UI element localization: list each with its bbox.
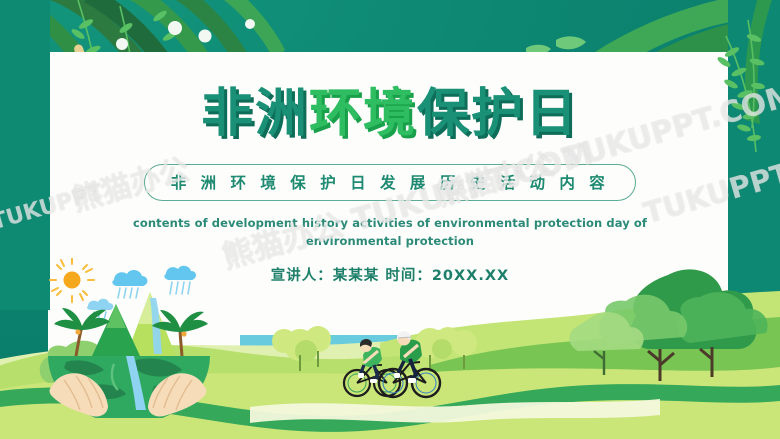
english-subtitle-line-2: environmental protection — [0, 233, 780, 251]
slide-canvas: 非洲环境保护日 非 洲 环 境 保 护 日 发 展 历 史 活 动 内 容 co… — [0, 0, 780, 439]
title-block: 非洲环境保护日 非 洲 环 境 保 护 日 发 展 历 史 活 动 内 容 co… — [0, 88, 780, 285]
title-part-1: 非洲 — [201, 84, 309, 144]
english-subtitle: contents of development history activiti… — [0, 215, 780, 251]
title-part-3: 保护日 — [417, 84, 579, 144]
page-title: 非洲环境保护日 — [0, 88, 780, 140]
subtitle-pill-wrap: 非 洲 环 境 保 护 日 发 展 历 史 活 动 内 容 — [0, 140, 780, 201]
title-part-2: 环境 — [309, 84, 417, 144]
english-subtitle-line-1: contents of development history activiti… — [133, 216, 647, 230]
presenter-and-date: 宣讲人：某某某 时间：20XX.XX — [0, 264, 780, 285]
subtitle-pill: 非 洲 环 境 保 护 日 发 展 历 史 活 动 内 容 — [144, 164, 637, 201]
cyclists-illustration — [330, 325, 450, 400]
